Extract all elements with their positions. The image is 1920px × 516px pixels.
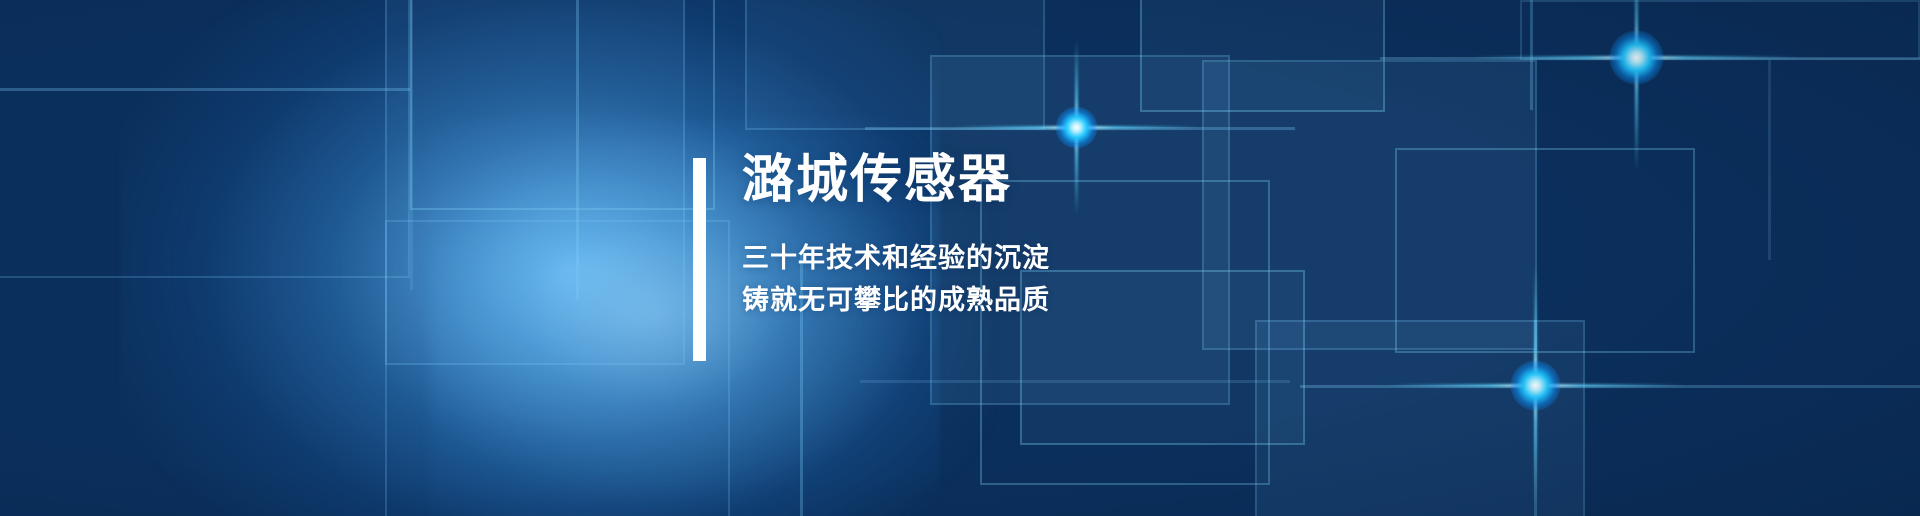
subtitle-line-1: 三十年技术和经验的沉淀 — [742, 238, 1382, 280]
page-title: 潞城传感器 — [742, 152, 1382, 208]
accent-bar — [693, 158, 706, 361]
hero-banner: 潞城传感器 三十年技术和经验的沉淀 铸就无可攀比的成熟品质 — [0, 0, 1920, 516]
banner-text-block: 潞城传感器 三十年技术和经验的沉淀 铸就无可攀比的成熟品质 — [742, 152, 1382, 322]
subtitle-line-2: 铸就无可攀比的成熟品质 — [742, 280, 1382, 322]
